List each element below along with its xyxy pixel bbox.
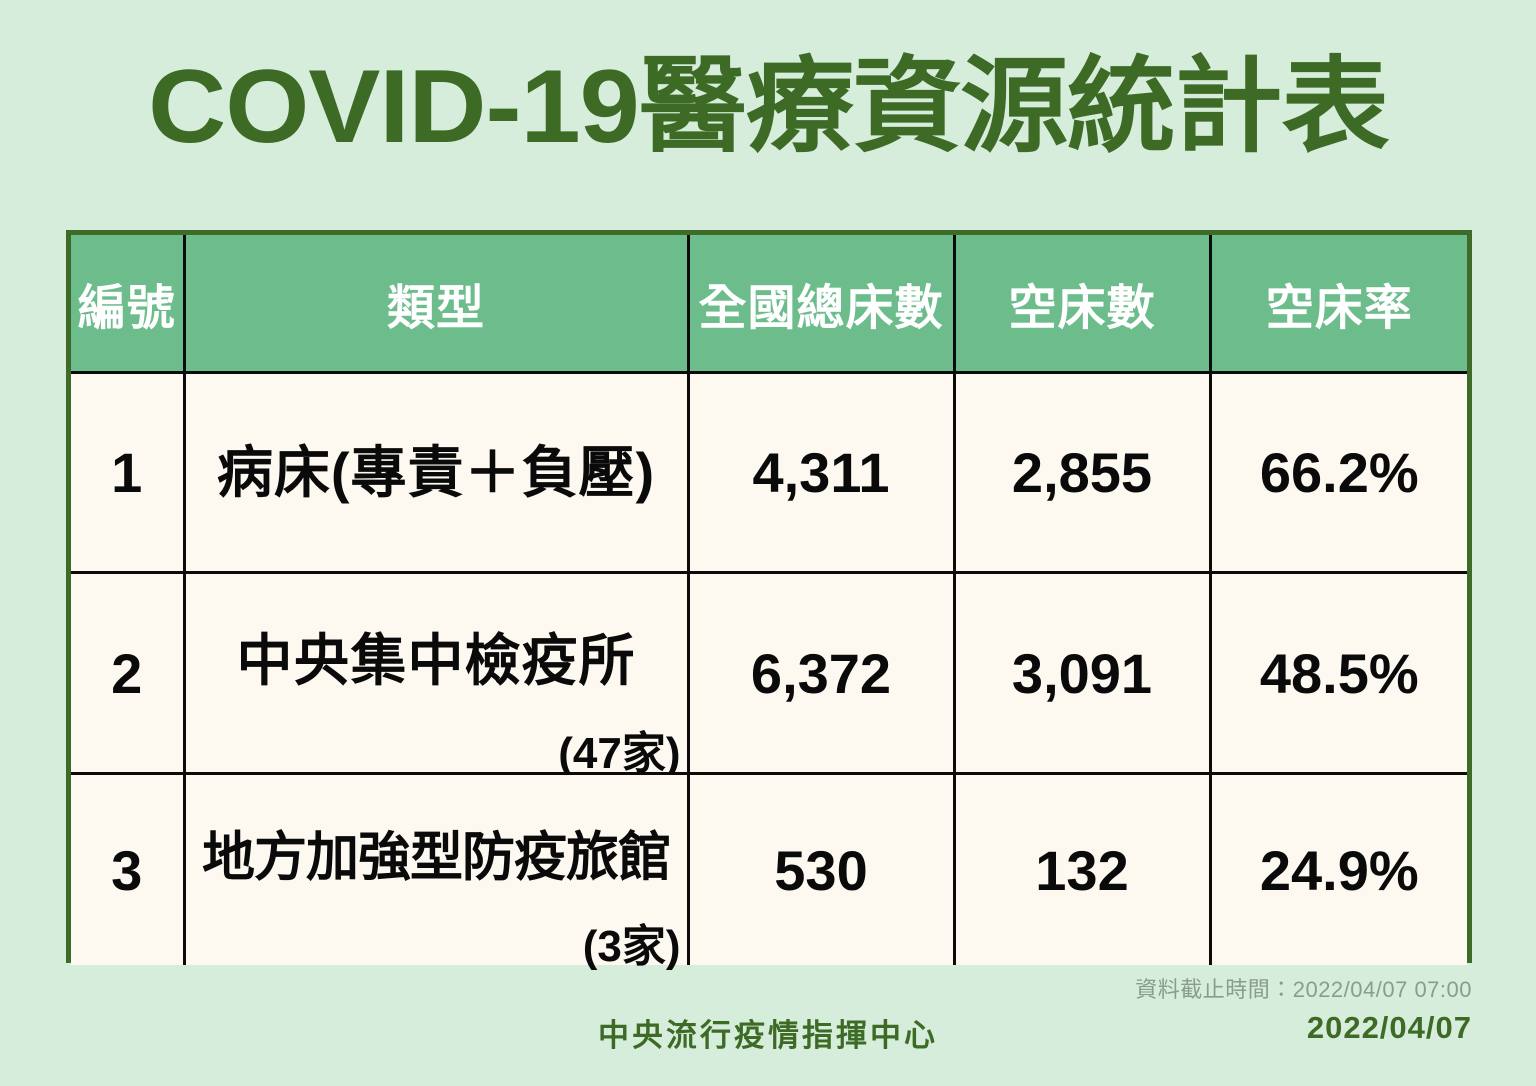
column-header-free-rate: 空床率 xyxy=(1210,235,1467,373)
page-title: COVID-19醫療資源統計表 xyxy=(148,52,1388,162)
cell-total-beds: 530 xyxy=(688,774,954,966)
column-header-free-beds: 空床數 xyxy=(954,235,1210,373)
cell-free-rate: 48.5% xyxy=(1210,573,1467,774)
cell-no: 3 xyxy=(71,774,184,966)
cell-no: 1 xyxy=(71,373,184,573)
column-header-type: 類型 xyxy=(184,235,688,373)
cell-free-rate: 24.9% xyxy=(1210,774,1467,966)
cell-type-facility-count: (47家) xyxy=(558,730,680,778)
cell-total-beds: 6,372 xyxy=(688,573,954,774)
cell-total-beds: 4,311 xyxy=(688,373,954,573)
cell-type: 地方加強型防疫旅館 (3家) xyxy=(184,774,688,966)
footer: 資料截止時間：2022/04/07 07:00 中央流行疫情指揮中心 2022/… xyxy=(0,966,1536,1086)
cell-type-label: 中央集中檢疫所 xyxy=(186,631,687,691)
cell-type: 中央集中檢疫所 (47家) xyxy=(184,573,688,774)
cell-free-beds: 2,855 xyxy=(954,373,1210,573)
footer-date: 2022/04/07 xyxy=(1307,1010,1472,1046)
table-row: 1 病床(專責＋負壓) 4,311 2,855 66.2% xyxy=(71,373,1467,573)
cell-no: 2 xyxy=(71,573,184,774)
cell-type-facility-count: (3家) xyxy=(583,923,681,971)
title-bar: COVID-19醫療資源統計表 xyxy=(0,52,1536,162)
footer-organization: 中央流行疫情指揮中心 xyxy=(0,1010,1536,1055)
cell-free-rate: 66.2% xyxy=(1210,373,1467,573)
cell-type-label: 病床(專責＋負壓) xyxy=(186,443,687,503)
medical-resources-table: 編號 類型 全國總床數 空床數 空床率 1 病床(專責＋負壓) 4,311 2,… xyxy=(66,230,1472,963)
column-header-total-beds: 全國總床數 xyxy=(688,235,954,373)
cell-type: 病床(專責＋負壓) xyxy=(184,373,688,573)
table-row: 3 地方加強型防疫旅館 (3家) 530 132 24.9% xyxy=(71,774,1467,966)
stats-table: 編號 類型 全國總床數 空床數 空床率 1 病床(專責＋負壓) 4,311 2,… xyxy=(71,235,1467,965)
table-header: 編號 類型 全國總床數 空床數 空床率 xyxy=(71,235,1467,373)
data-cutoff-timestamp: 資料截止時間：2022/04/07 07:00 xyxy=(1135,972,1472,1004)
column-header-no: 編號 xyxy=(71,235,184,373)
table-body: 1 病床(專責＋負壓) 4,311 2,855 66.2% 2 中央集中檢疫所 … xyxy=(71,373,1467,966)
cell-free-beds: 132 xyxy=(954,774,1210,966)
cell-free-beds: 3,091 xyxy=(954,573,1210,774)
cell-type-label: 地方加強型防疫旅館 xyxy=(186,828,687,888)
table-row: 2 中央集中檢疫所 (47家) 6,372 3,091 48.5% xyxy=(71,573,1467,774)
header-row: 編號 類型 全國總床數 空床數 空床率 xyxy=(71,235,1467,373)
